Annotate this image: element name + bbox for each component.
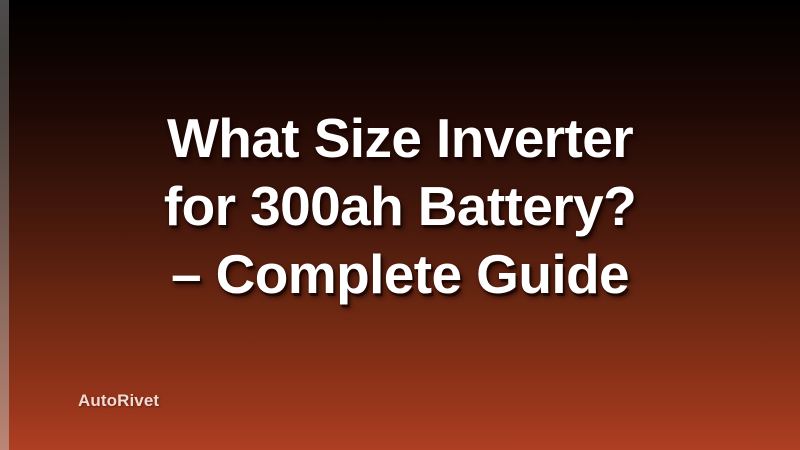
hero-card: What Size Inverter for 300ah Battery? – … bbox=[0, 0, 800, 450]
page-title: What Size Inverter for 300ah Battery? – … bbox=[0, 104, 800, 308]
headline-line-2: for 300ah Battery? bbox=[28, 172, 772, 240]
headline-line-1: What Size Inverter bbox=[28, 104, 772, 172]
headline-line-3: – Complete Guide bbox=[28, 240, 772, 308]
brand-name-label: AutoRivet bbox=[78, 391, 159, 410]
brand-watermark: AutoRivet bbox=[78, 391, 159, 411]
